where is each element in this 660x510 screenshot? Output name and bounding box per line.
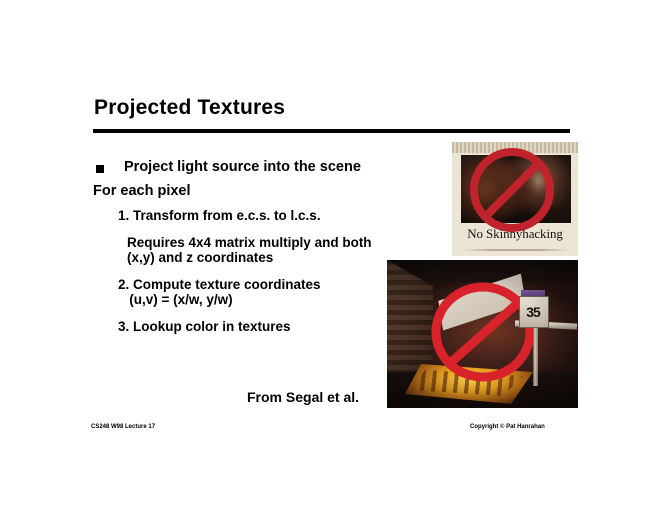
prohibition-sign-icon	[466, 144, 558, 236]
footer-course-label: CS248 W98 Lecture 17	[91, 424, 155, 430]
step-2-line-1: 2. Compute texture coordinates	[118, 277, 321, 292]
bullet-item-text: Project light source into the scene	[124, 160, 361, 176]
page-title: Projected Textures	[94, 96, 285, 120]
line-for-each-pixel: For each pixel	[93, 184, 191, 200]
bullet-square-icon	[96, 165, 104, 173]
step-1-detail-line-2: (x,y) and z coordinates	[127, 250, 273, 265]
line-step-1-detail: Requires 4x4 matrix multiply and both(x,…	[127, 236, 372, 265]
poster-caption-underline	[460, 249, 572, 251]
line-step-2: 2. Compute texture coordinates (u,v) = (…	[118, 278, 321, 307]
poster-caption: No Skinnyhacking	[452, 226, 578, 242]
footer-copyright-label: Copyright © Pat Hanrahan	[470, 424, 545, 430]
attribution-text: From Segal et al.	[247, 390, 359, 405]
step-1-detail-line-1: Requires 4x4 matrix multiply and both	[127, 235, 372, 250]
title-divider	[93, 129, 570, 133]
projected-texture-render-image: 35	[387, 260, 578, 408]
slide-canvas: Projected Textures Project light source …	[0, 0, 660, 510]
render-vignette	[387, 260, 578, 408]
line-step-3: 3. Lookup color in textures	[118, 320, 291, 335]
no-skinnyhacking-poster-image: No Skinnyhacking	[452, 142, 578, 256]
line-step-1: 1. Transform from e.c.s. to l.c.s.	[118, 209, 321, 224]
step-2-line-2: (u,v) = (x/w, y/w)	[118, 292, 233, 307]
